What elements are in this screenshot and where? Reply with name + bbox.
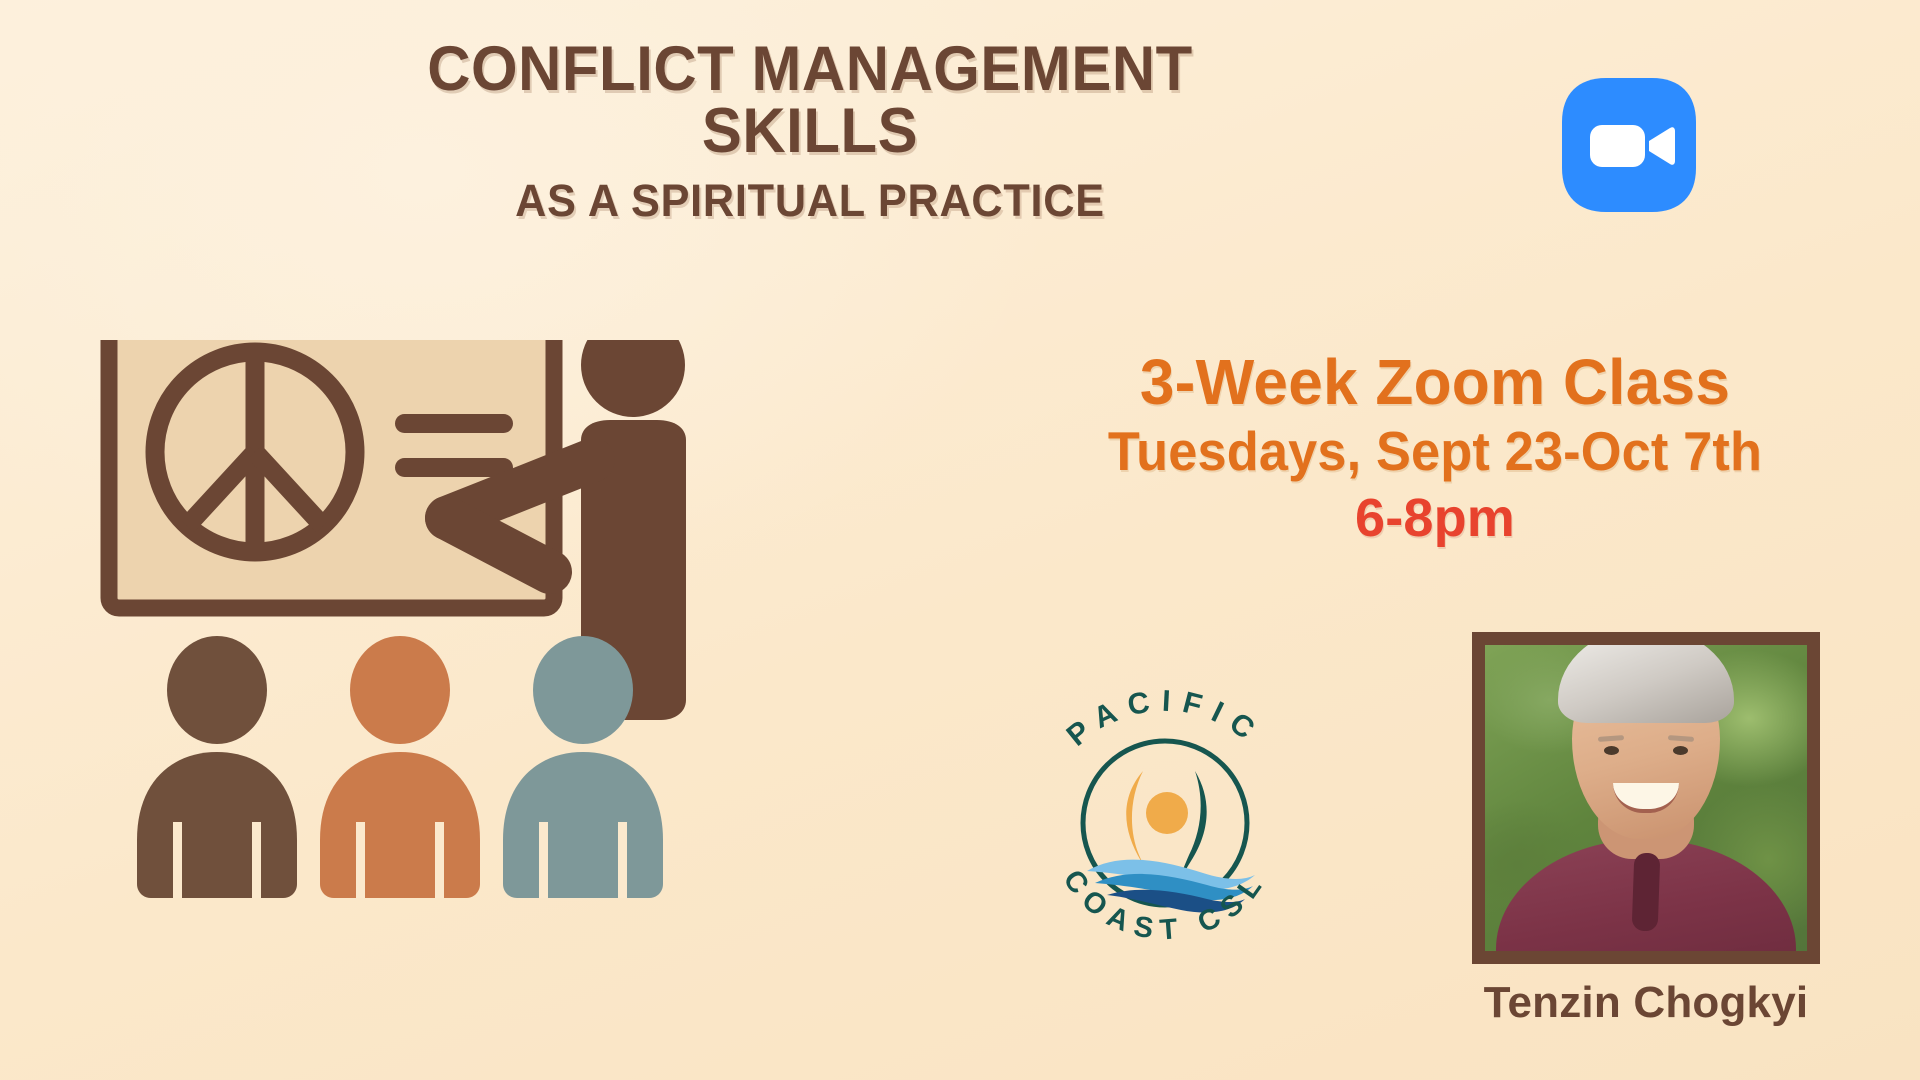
whiteboard-icon bbox=[109, 340, 554, 608]
class-details: 3-Week Zoom Class Tuesdays, Sept 23-Oct … bbox=[1020, 350, 1850, 547]
zoom-video-camera-icon bbox=[1554, 70, 1704, 220]
title-line-2: SKILLS bbox=[326, 100, 1295, 162]
flyer-canvas: CONFLICT MANAGEMENT SKILLS AS A SPIRITUA… bbox=[0, 0, 1920, 1080]
board-text-bar-1 bbox=[395, 414, 513, 433]
title-line-1: CONFLICT MANAGEMENT bbox=[326, 38, 1295, 100]
classroom-presentation-illustration bbox=[95, 340, 895, 1040]
presenter-name: Tenzin Chogkyi bbox=[1472, 978, 1820, 1028]
zoom-logo bbox=[1554, 70, 1704, 220]
photo-eye-left bbox=[1604, 746, 1619, 755]
pacific-coast-csl-logo: PACIFIC COAST CSL bbox=[1015, 665, 1315, 965]
photo-collar bbox=[1632, 853, 1661, 932]
class-time: 6-8pm bbox=[1020, 490, 1850, 546]
presenter-block: Tenzin Chogkyi bbox=[1472, 632, 1820, 1028]
audience-figure-1-icon bbox=[137, 636, 297, 898]
title-subtitle: AS A SPIRITUAL PRACTICE bbox=[320, 175, 1299, 227]
logo-figure-head bbox=[1146, 792, 1188, 834]
presenter-photo bbox=[1472, 632, 1820, 964]
photo-eye-right bbox=[1673, 746, 1688, 755]
class-schedule: Tuesdays, Sept 23-Oct 7th bbox=[1041, 423, 1830, 480]
class-format: 3-Week Zoom Class bbox=[1032, 350, 1837, 415]
board-text-bar-2 bbox=[395, 458, 513, 477]
audience-figure-2-icon bbox=[320, 636, 480, 898]
page-title: CONFLICT MANAGEMENT SKILLS AS A SPIRITUA… bbox=[300, 38, 1320, 227]
